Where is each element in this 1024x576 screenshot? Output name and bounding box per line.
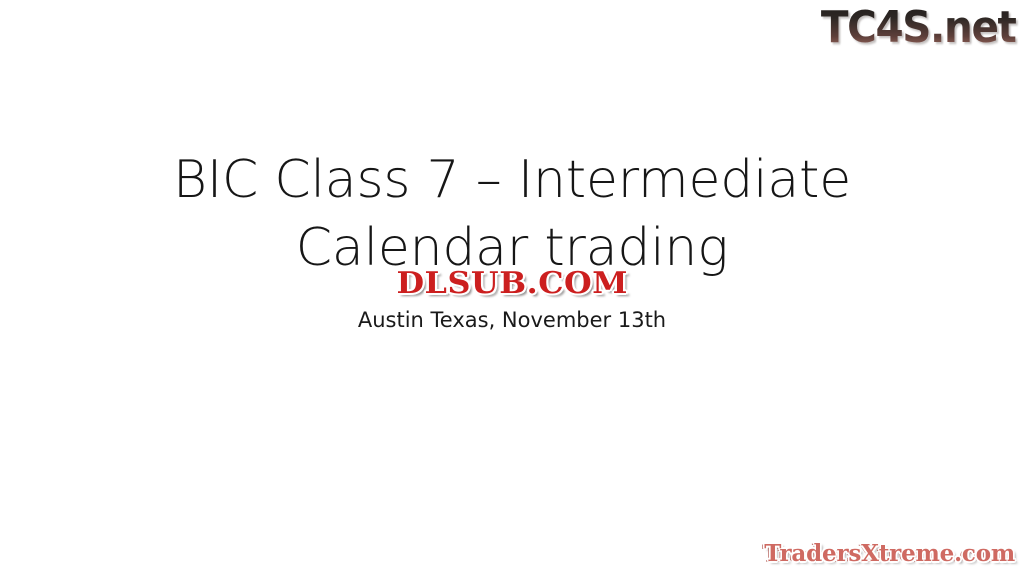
- subtitle-block: Austin Texas, November 13th: [0, 306, 1024, 334]
- title-block: BIC Class 7 – Intermediate Calendar trad…: [0, 146, 1024, 282]
- slide-subtitle: Austin Texas, November 13th: [0, 306, 1024, 334]
- slide-title: BIC Class 7 – Intermediate Calendar trad…: [0, 146, 1024, 282]
- watermark-tradersxtreme-com: TradersXtreme.com: [764, 540, 1015, 567]
- watermark-tc4s-net: TC4S.net: [821, 2, 1016, 54]
- presentation-slide: TC4S.net BIC Class 7 – Intermediate Cale…: [0, 0, 1024, 576]
